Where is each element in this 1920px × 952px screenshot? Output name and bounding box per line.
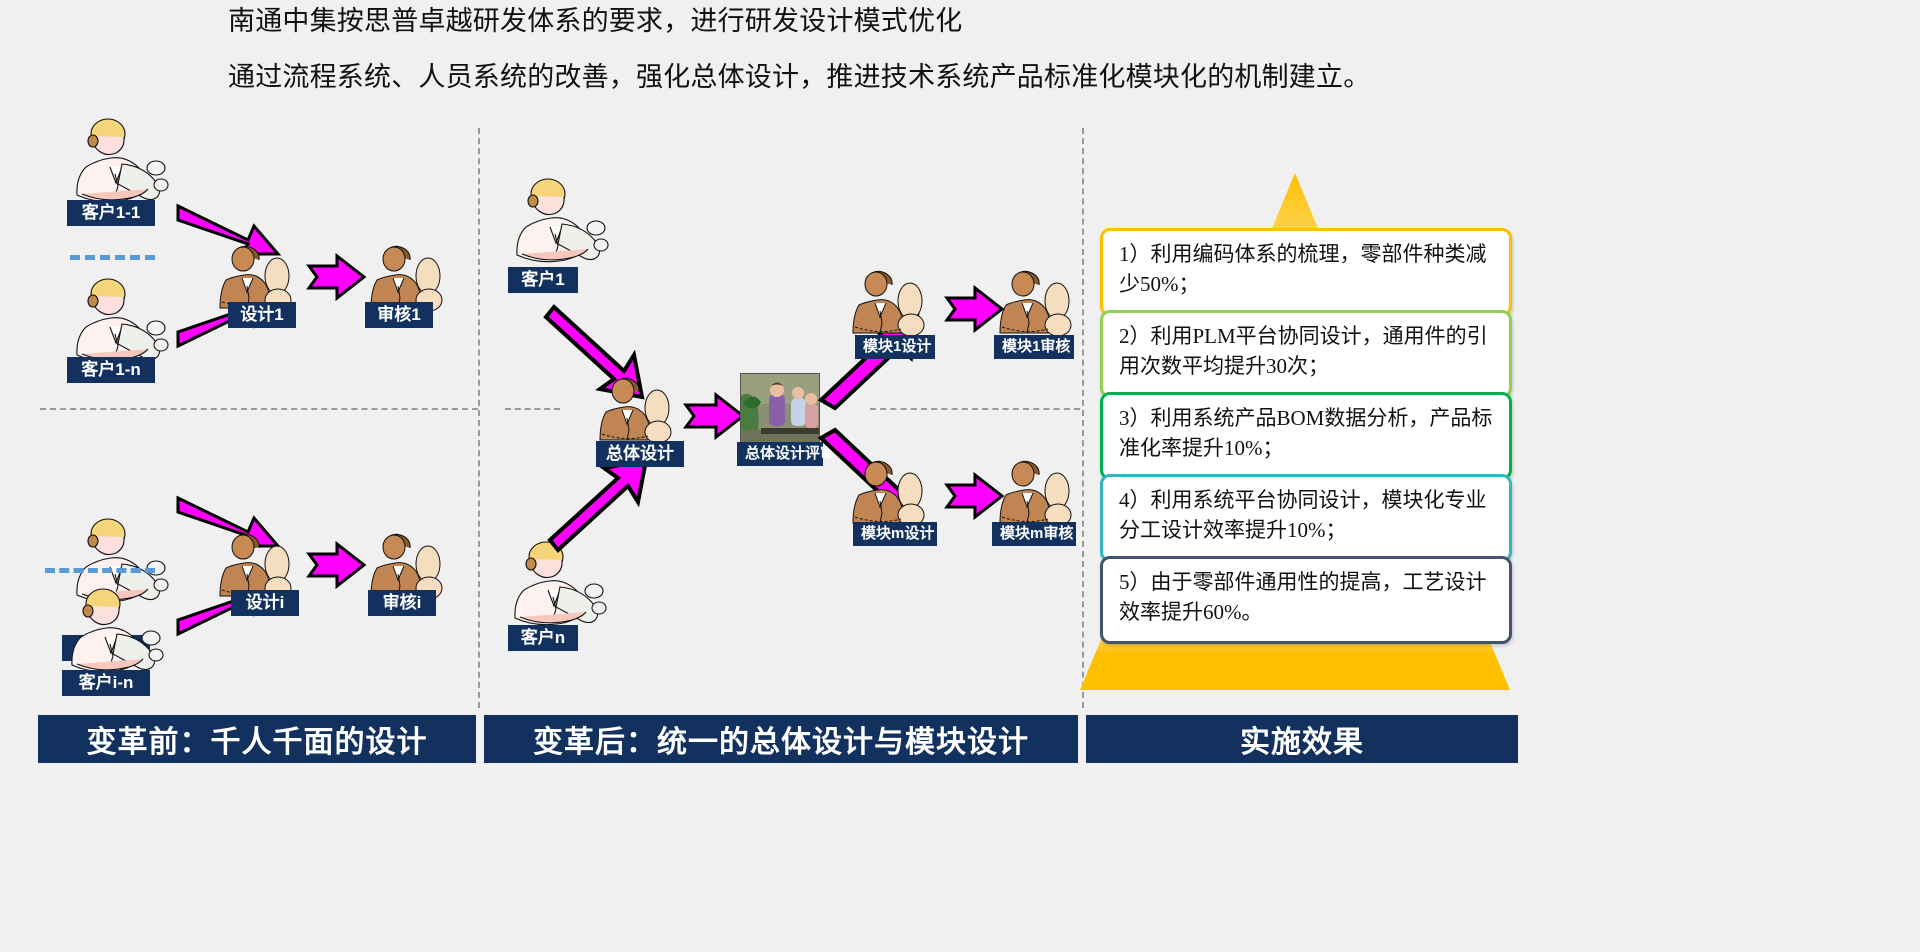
- divider-left-horizontal: [40, 408, 478, 410]
- label-module-m-review: 模块m审核: [992, 522, 1076, 546]
- label-module-m-design: 模块m设计: [853, 522, 937, 546]
- effect-box-1: 1）利用编码体系的梳理，零部件种类减少50%；: [1100, 228, 1512, 316]
- clipart-person-customer-1: [500, 172, 610, 267]
- separator-blue-dash-top: [70, 255, 155, 260]
- label-module-1-design: 模块1设计: [855, 335, 935, 359]
- label-customer-1-1: 客户1-1: [67, 200, 155, 226]
- label-customer-1-n: 客户1-n: [67, 357, 155, 383]
- arrow-design-i-to-review-i: [307, 541, 367, 589]
- label-design-i: 设计i: [231, 590, 299, 616]
- label-customer-1: 客户1: [508, 267, 578, 293]
- effect-box-5: 5）由于零部件通用性的提高，工艺设计效率提升60%。: [1100, 556, 1512, 644]
- photo-overall-design-review: [740, 373, 820, 443]
- effect-text-1: 1）利用编码体系的梳理，零部件种类减少50%；: [1119, 242, 1487, 296]
- banner-implementation-effect: 实施效果: [1086, 715, 1518, 763]
- banner-before-transformation: 变革前：千人千面的设计: [38, 715, 476, 763]
- clipart-person-module-m-design: [845, 455, 945, 527]
- label-overall-design-review: 总体设计评审: [737, 442, 823, 466]
- divider-left-middle: [478, 128, 480, 708]
- separator-blue-dash-bottom: [45, 568, 155, 573]
- banner-after-transformation: 变革后：统一的总体设计与模块设计: [484, 715, 1078, 763]
- label-overall-design: 总体设计: [596, 441, 684, 467]
- label-customer-n: 客户n: [508, 625, 578, 651]
- effect-text-5: 5）由于零部件通用性的提高，工艺设计效率提升60%。: [1119, 570, 1487, 624]
- clipart-person-customer-i-n: [55, 582, 165, 677]
- label-customer-i-n: 客户i-n: [62, 670, 150, 696]
- clipart-person-customer-1-1: [60, 112, 170, 207]
- effect-text-2: 2）利用PLM平台协同设计，通用件的引用次数平均提升30次；: [1119, 324, 1488, 378]
- divider-middle-horizontal-left: [505, 408, 560, 410]
- effect-box-3: 3）利用系统产品BOM数据分析，产品标准化率提升10%；: [1100, 392, 1512, 480]
- title-line-1: 南通中集按思普卓越研发体系的要求，进行研发设计模式优化: [228, 8, 1628, 35]
- label-module-1-review: 模块1审核: [994, 335, 1074, 359]
- title-line-2: 通过流程系统、人员系统的改善，强化总体设计，推进技术系统产品标准化模块化的机制建…: [228, 64, 1628, 91]
- clipart-person-module-1-design: [845, 265, 945, 337]
- arrow-overall-design-to-review: [684, 392, 746, 440]
- label-review-i: 审核i: [368, 590, 436, 616]
- clipart-person-customer-1-n: [60, 272, 170, 367]
- label-design-1: 设计1: [228, 302, 296, 328]
- effect-text-3: 3）利用系统产品BOM数据分析，产品标准化率提升10%；: [1119, 406, 1492, 460]
- label-review-1: 审核1: [365, 302, 433, 328]
- effect-box-2: 2）利用PLM平台协同设计，通用件的引用次数平均提升30次；: [1100, 310, 1512, 398]
- clipart-person-overall-design: [592, 372, 692, 444]
- arrow-design-1-to-review-1: [307, 253, 367, 301]
- page-title: 南通中集按思普卓越研发体系的要求，进行研发设计模式优化 通过流程系统、人员系统的…: [228, 8, 1628, 91]
- effect-text-4: 4）利用系统平台协同设计，模块化专业分工设计效率提升10%；: [1119, 488, 1487, 542]
- effect-box-4: 4）利用系统平台协同设计，模块化专业分工设计效率提升10%；: [1100, 474, 1512, 562]
